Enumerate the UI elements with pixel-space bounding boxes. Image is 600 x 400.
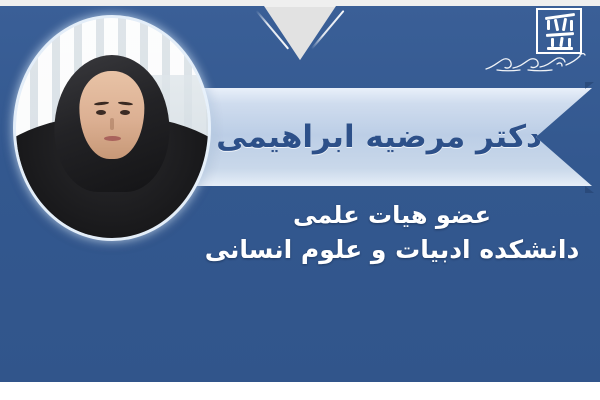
position-block: عضو هیات علمی دانشکده ادبیات و علوم انسا… [196, 198, 588, 268]
portrait-image [16, 18, 208, 238]
person-name: دکتر مرضیه ابراهیمی [216, 119, 542, 155]
subject-eye-right [120, 110, 130, 115]
faculty-name: دانشکده ادبیات و علوم انسانی [196, 232, 588, 268]
university-emblem-icon [536, 8, 582, 54]
subject-eye-left [96, 110, 106, 115]
university-logo [478, 8, 590, 72]
ribbon-fold-top [585, 82, 594, 89]
position-title: عضو هیات علمی [196, 198, 588, 232]
portrait-photo [16, 18, 208, 238]
announcement-card: دکتر مرضیه ابراهیمی عضو هیات علمی دانشکد… [0, 0, 600, 400]
name-ribbon-banner: دکتر مرضیه ابراهیمی [192, 88, 592, 186]
subject-mouth [104, 136, 121, 141]
bottom-white-margin [0, 382, 600, 400]
top-edge-sliver [0, 0, 600, 7]
ribbon-fold-bottom [585, 186, 594, 193]
subject-nose [110, 118, 114, 130]
public-relations-script-icon [482, 52, 586, 74]
